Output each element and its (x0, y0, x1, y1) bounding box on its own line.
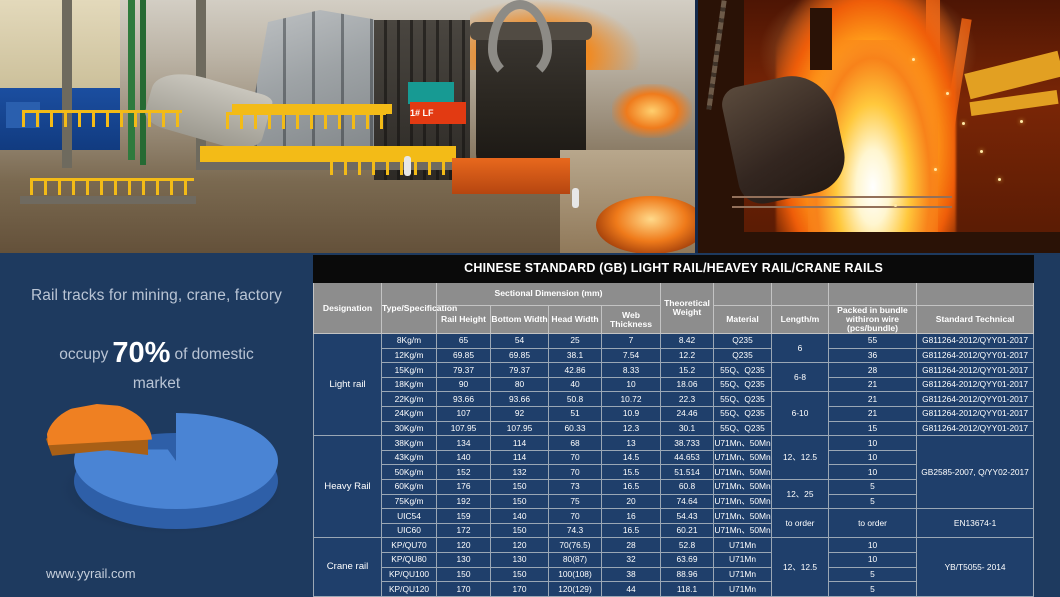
cell-type-spec: UIC60 (382, 523, 437, 538)
cell-standard: G811264-2012/QYY01-2017 (917, 334, 1034, 349)
foreground-dark-band (698, 232, 1060, 253)
cell-standard: EN13674-1 (917, 509, 1034, 538)
cell-type-spec: KP/QU80 (382, 552, 437, 567)
cell-material: 55Q、Q235 (714, 363, 772, 378)
cell-head-width: 70 (549, 450, 602, 465)
cell-rail-height: 79.37 (437, 363, 491, 378)
cell-rail-height: 130 (437, 552, 491, 567)
table-row: 12Kg/m69.8569.8538.17.5412.2Q23536G81126… (314, 348, 1034, 363)
header-web-thickness: Web Thickness (602, 306, 661, 334)
cell-bottom-width: 114 (491, 450, 549, 465)
cell-material: U71Mn (714, 567, 772, 582)
product-banner: 1# LF (0, 0, 1060, 596)
cell-theoretical-weight: 118.1 (661, 582, 714, 597)
cell-rail-height: 69.85 (437, 348, 491, 363)
table-title-row: CHINESE STANDARD (GB) LIGHT RAIL/HEAVEY … (314, 256, 1034, 283)
cell-head-width: 70 (549, 509, 602, 524)
cell-head-width: 40 (549, 377, 602, 392)
worker-figure (572, 188, 579, 208)
cell-bottom-width: 69.85 (491, 348, 549, 363)
cell-theoretical-weight: 15.2 (661, 363, 714, 378)
cell-theoretical-weight: 60.8 (661, 479, 714, 494)
cell-packed: 5 (829, 479, 917, 494)
cell-theoretical-weight: 51.514 (661, 465, 714, 480)
cell-type-spec: 43Kg/m (382, 450, 437, 465)
cell-packed: 10 (829, 436, 917, 451)
worker-figure (404, 156, 411, 176)
platform-edge (20, 196, 196, 204)
group-designation: Crane rail (314, 538, 382, 596)
cell-rail-height: 172 (437, 523, 491, 538)
header-head-width: Head Width (549, 306, 602, 334)
cell-web-thickness: 10.9 (602, 407, 661, 422)
cell-web-thickness: 10.72 (602, 392, 661, 407)
platform-rail (732, 206, 952, 208)
header-length: Length/m (772, 306, 829, 334)
hot-slag-pool (596, 196, 695, 253)
cell-packed: to order (829, 509, 917, 538)
cell-packed: 21 (829, 407, 917, 422)
cell-packed: 36 (829, 348, 917, 363)
cell-head-width: 70 (549, 465, 602, 480)
table-body: CHINESE STANDARD (GB) LIGHT RAIL/HEAVEY … (314, 256, 1034, 597)
cell-type-spec: 12Kg/m (382, 348, 437, 363)
cell-rail-height: 170 (437, 582, 491, 597)
cell-type-spec: KP/QU120 (382, 582, 437, 597)
cell-web-thickness: 32 (602, 552, 661, 567)
cell-packed: 21 (829, 377, 917, 392)
cell-material: Q235 (714, 348, 772, 363)
cell-material: U71Mn (714, 582, 772, 597)
cell-web-thickness: 7 (602, 334, 661, 349)
cell-head-width: 42.86 (549, 363, 602, 378)
cell-bottom-width: 150 (491, 479, 549, 494)
rail-spec-table: CHINESE STANDARD (GB) LIGHT RAIL/HEAVEY … (313, 255, 1034, 597)
cell-packed: 15 (829, 421, 917, 436)
safety-railing (226, 112, 386, 115)
cell-length: 12、12.5 (772, 538, 829, 596)
header-standard: Standard Technical (917, 306, 1034, 334)
cell-bottom-width: 114 (491, 436, 549, 451)
cell-type-spec: 50Kg/m (382, 465, 437, 480)
plant-wall (0, 0, 120, 92)
cell-type-spec: 38Kg/m (382, 436, 437, 451)
cell-type-spec: 22Kg/m (382, 392, 437, 407)
table-row: 18Kg/m9080401018.0655Q、Q23521G811264-201… (314, 377, 1034, 392)
cell-head-width: 73 (549, 479, 602, 494)
cell-head-width: 50.8 (549, 392, 602, 407)
cell-web-thickness: 7.54 (602, 348, 661, 363)
steel-mill-ladle-furnace-photo: 1# LF (0, 0, 695, 253)
domestic-label: of domestic (174, 346, 253, 363)
cell-web-thickness: 16 (602, 509, 661, 524)
cell-bottom-width: 150 (491, 494, 549, 509)
cell-packed: 10 (829, 450, 917, 465)
cell-rail-height: 150 (437, 567, 491, 582)
spec-table-container: CHINESE STANDARD (GB) LIGHT RAIL/HEAVEY … (313, 255, 1035, 585)
cell-head-width: 80(87) (549, 552, 602, 567)
cell-rail-height: 159 (437, 509, 491, 524)
cell-rail-height: 107 (437, 407, 491, 422)
cell-length: 12、25 (772, 479, 829, 508)
cell-head-width: 74.3 (549, 523, 602, 538)
cell-head-width: 68 (549, 436, 602, 451)
website-url[interactable]: www.yyrail.com (46, 566, 136, 581)
cell-length: to order (772, 509, 829, 538)
cell-length: 12、12.5 (772, 436, 829, 480)
cell-head-width: 60.33 (549, 421, 602, 436)
cell-bottom-width: 140 (491, 509, 549, 524)
cell-theoretical-weight: 54.43 (661, 509, 714, 524)
green-pipe (140, 0, 146, 165)
cell-bottom-width: 107.95 (491, 421, 549, 436)
header-row-1: DesignationType/SpecificationSectional D… (314, 283, 1034, 306)
cell-head-width: 38.1 (549, 348, 602, 363)
table-row: 30Kg/m107.95107.9560.3312.330.155Q、Q2351… (314, 421, 1034, 436)
cell-material: U71Mn、50Mn (714, 436, 772, 451)
pour-spout (810, 8, 832, 70)
cell-web-thickness: 8.33 (602, 363, 661, 378)
cell-material: U71Mn、50Mn (714, 509, 772, 524)
cell-type-spec: 24Kg/m (382, 407, 437, 422)
table-row: 24Kg/m107925110.924.4655Q、Q23521G811264-… (314, 407, 1034, 422)
cell-web-thickness: 14.5 (602, 450, 661, 465)
cell-head-width: 51 (549, 407, 602, 422)
cell-theoretical-weight: 8.42 (661, 334, 714, 349)
steel-column (62, 0, 72, 168)
cell-theoretical-weight: 88.96 (661, 567, 714, 582)
header-designation: Designation (314, 283, 382, 334)
cell-type-spec: 15Kg/m (382, 363, 437, 378)
cell-material: 55Q、Q235 (714, 407, 772, 422)
cell-standard: GB2585-2007, Q/YY02-2017 (917, 436, 1034, 509)
cell-rail-height: 134 (437, 436, 491, 451)
table-row: Heavy Rail38Kg/m134114681338.733U71Mn、50… (314, 436, 1034, 451)
cell-theoretical-weight: 18.06 (661, 377, 714, 392)
cell-theoretical-weight: 30.1 (661, 421, 714, 436)
cell-material: Q235 (714, 334, 772, 349)
cell-type-spec: UIC54 (382, 509, 437, 524)
cell-bottom-width: 170 (491, 582, 549, 597)
cell-material: U71Mn、50Mn (714, 465, 772, 480)
cell-material: 55Q、Q235 (714, 421, 772, 436)
header-theoretical-weight: Theoretical Weight (661, 283, 714, 334)
cell-material: U71Mn、50Mn (714, 479, 772, 494)
cell-web-thickness: 15.5 (602, 465, 661, 480)
green-pipe (128, 0, 135, 160)
cell-bottom-width: 130 (491, 552, 549, 567)
cell-standard: G811264-2012/QYY01-2017 (917, 363, 1034, 378)
cell-rail-height: 107.95 (437, 421, 491, 436)
cell-type-spec: KP/QU100 (382, 567, 437, 582)
orange-transfer-car (452, 158, 570, 194)
percent-value: 70% (108, 337, 174, 369)
header-packed-spacer (829, 283, 917, 306)
furnace-sign: 1# LF (410, 102, 466, 124)
header-type-spec: Type/Specification (382, 283, 437, 334)
cell-material: U71Mn、50Mn (714, 450, 772, 465)
cell-web-thickness: 38 (602, 567, 661, 582)
cell-rail-height: 176 (437, 479, 491, 494)
cell-theoretical-weight: 38.733 (661, 436, 714, 451)
teal-equipment-box (408, 82, 454, 104)
cell-standard: G811264-2012/QYY01-2017 (917, 348, 1034, 363)
cell-packed: 55 (829, 334, 917, 349)
cell-bottom-width: 54 (491, 334, 549, 349)
cell-type-spec: 60Kg/m (382, 479, 437, 494)
cell-web-thickness: 10 (602, 377, 661, 392)
cell-rail-height: 192 (437, 494, 491, 509)
cell-bottom-width: 80 (491, 377, 549, 392)
cell-theoretical-weight: 60.21 (661, 523, 714, 538)
photo-band: 1# LF (0, 0, 1060, 253)
cell-packed: 5 (829, 567, 917, 582)
cell-packed: 10 (829, 465, 917, 480)
table-row: UIC54159140701654.43U71Mn、50Mnto orderto… (314, 509, 1034, 524)
market-share-pie-chart (6, 381, 306, 556)
cell-web-thickness: 20 (602, 494, 661, 509)
cell-material: 55Q、Q235 (714, 377, 772, 392)
cell-rail-height: 90 (437, 377, 491, 392)
cell-material: U71Mn、50Mn (714, 523, 772, 538)
platform-rail (732, 196, 952, 198)
occupy-label: occupy (59, 346, 108, 363)
cell-web-thickness: 13 (602, 436, 661, 451)
cell-material: 55Q、Q235 (714, 392, 772, 407)
cell-theoretical-weight: 22.3 (661, 392, 714, 407)
cell-bottom-width: 79.37 (491, 363, 549, 378)
table-row: 15Kg/m79.3779.3742.868.3315.255Q、Q2356-8… (314, 363, 1034, 378)
cell-bottom-width: 92 (491, 407, 549, 422)
headline-line-1: Rail tracks for mining, crane, factory (0, 287, 313, 305)
molten-steel-pouring-photo (695, 0, 1060, 253)
cell-standard: G811264-2012/QYY01-2017 (917, 421, 1034, 436)
safety-railing (330, 158, 450, 161)
header-packed: Packed in bundle withiron wire (pcs/bund… (829, 306, 917, 334)
header-bottom-width: Bottom Width (491, 306, 549, 334)
cell-type-spec: 75Kg/m (382, 494, 437, 509)
cell-theoretical-weight: 74.64 (661, 494, 714, 509)
cell-length: 6-8 (772, 363, 829, 392)
table-row: Crane railKP/QU7012012070(76.5)2852.8U71… (314, 538, 1034, 553)
cell-rail-height: 65 (437, 334, 491, 349)
cell-rail-height: 140 (437, 450, 491, 465)
cell-standard: G811264-2012/QYY01-2017 (917, 377, 1034, 392)
cell-material: U71Mn (714, 538, 772, 553)
cell-bottom-width: 150 (491, 523, 549, 538)
cell-head-width: 70(76.5) (549, 538, 602, 553)
cell-rail-height: 152 (437, 465, 491, 480)
cell-head-width: 100(108) (549, 567, 602, 582)
cell-head-width: 75 (549, 494, 602, 509)
cell-head-width: 120(129) (549, 582, 602, 597)
table-row: Light rail8Kg/m65542578.42Q235655G811264… (314, 334, 1034, 349)
cell-bottom-width: 150 (491, 567, 549, 582)
cell-bottom-width: 132 (491, 465, 549, 480)
cell-packed: 5 (829, 494, 917, 509)
secondary-glow (612, 84, 692, 138)
cell-type-spec: 30Kg/m (382, 421, 437, 436)
cell-material: U71Mn、50Mn (714, 494, 772, 509)
info-panel: Rail tracks for mining, crane, factory o… (0, 253, 313, 596)
group-designation: Heavy Rail (314, 436, 382, 538)
cell-packed: 10 (829, 552, 917, 567)
cell-web-thickness: 16.5 (602, 523, 661, 538)
table-title: CHINESE STANDARD (GB) LIGHT RAIL/HEAVEY … (314, 256, 1034, 283)
header-material: Material (714, 306, 772, 334)
cell-rail-height: 120 (437, 538, 491, 553)
header-length-spacer (772, 283, 829, 306)
cell-length: 6 (772, 334, 829, 363)
safety-railing (22, 110, 182, 113)
cell-packed: 28 (829, 363, 917, 378)
cell-packed: 5 (829, 582, 917, 597)
cell-head-width: 25 (549, 334, 602, 349)
group-designation: Light rail (314, 334, 382, 436)
cell-length: 6-10 (772, 392, 829, 436)
header-standard-spacer (917, 283, 1034, 306)
cell-web-thickness: 28 (602, 538, 661, 553)
cell-theoretical-weight: 63.69 (661, 552, 714, 567)
headline-line-2: occupy70%of domestic (0, 337, 313, 370)
cell-bottom-width: 93.66 (491, 392, 549, 407)
header-material-spacer (714, 283, 772, 306)
cell-web-thickness: 12.3 (602, 421, 661, 436)
header-sectional-dimension: Sectional Dimension (mm) (437, 283, 661, 306)
cell-standard: YB/T5055- 2014 (917, 538, 1034, 596)
cell-theoretical-weight: 52.8 (661, 538, 714, 553)
table-row: 22Kg/m93.6693.6650.810.7222.355Q、Q2356-1… (314, 392, 1034, 407)
cell-theoretical-weight: 44.653 (661, 450, 714, 465)
cell-web-thickness: 16.5 (602, 479, 661, 494)
cell-web-thickness: 44 (602, 582, 661, 597)
cell-type-spec: 18Kg/m (382, 377, 437, 392)
cell-type-spec: KP/QU70 (382, 538, 437, 553)
cell-standard: G811264-2012/QYY01-2017 (917, 392, 1034, 407)
safety-railing (30, 178, 194, 181)
cell-type-spec: 8Kg/m (382, 334, 437, 349)
cell-bottom-width: 120 (491, 538, 549, 553)
cell-theoretical-weight: 24.46 (661, 407, 714, 422)
cell-packed: 21 (829, 392, 917, 407)
cell-standard: G811264-2012/QYY01-2017 (917, 407, 1034, 422)
cell-packed: 10 (829, 538, 917, 553)
cell-rail-height: 93.66 (437, 392, 491, 407)
cell-theoretical-weight: 12.2 (661, 348, 714, 363)
cell-material: U71Mn (714, 552, 772, 567)
